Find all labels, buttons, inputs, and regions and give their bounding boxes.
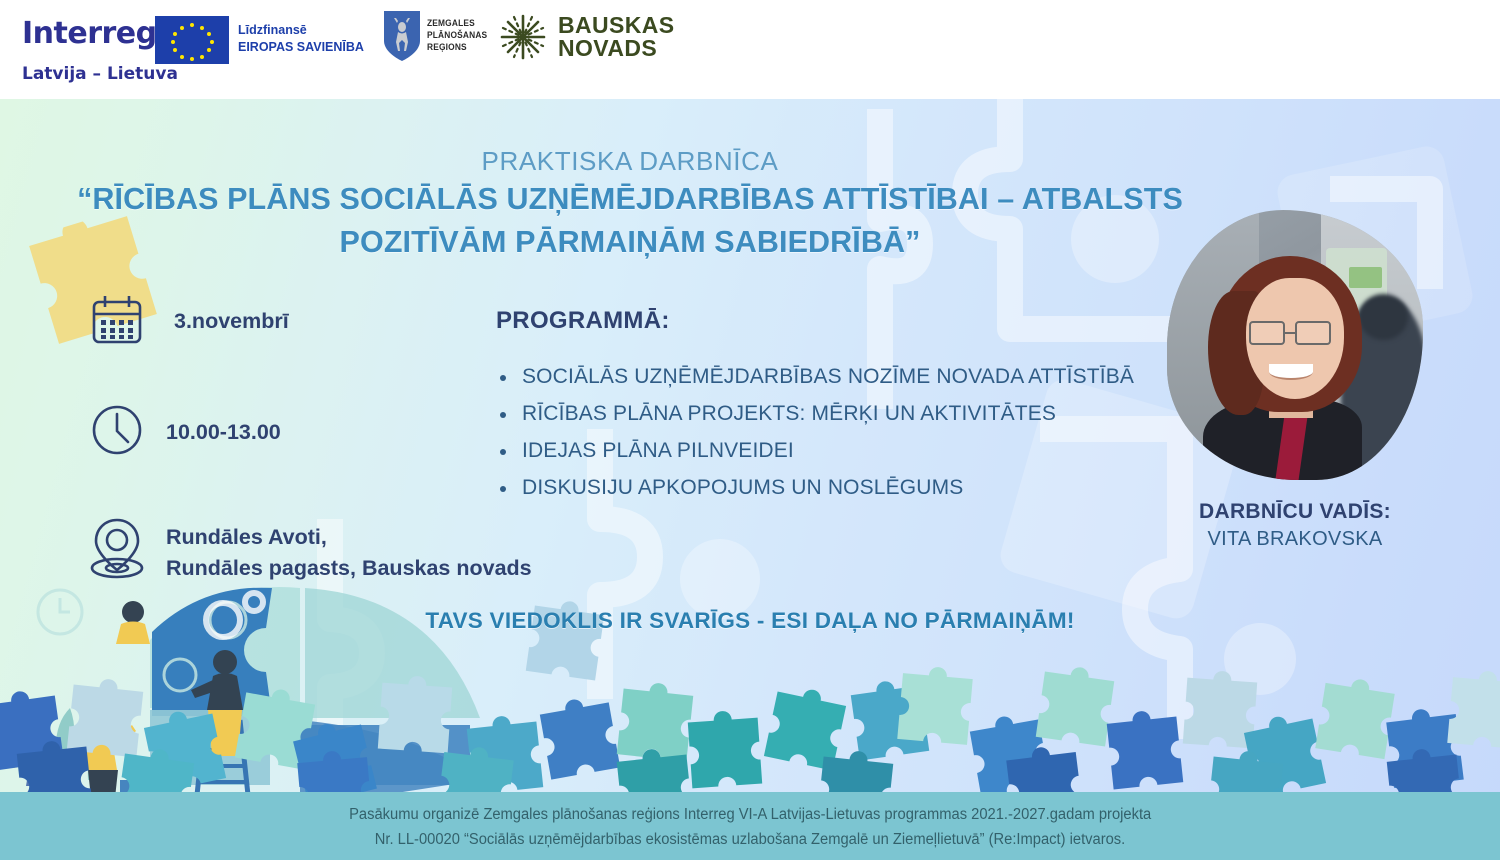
title-line-1: “RĪCĪBAS PLĀNS SOCIĀLĀS UZŅĒMĒJDARBĪBAS …: [0, 178, 1260, 221]
location-pin-icon: [88, 516, 158, 587]
detail-row-location: Rundāles Avoti, Rundāles pagasts, Bauska…: [88, 516, 588, 587]
event-location: Rundāles Avoti, Rundāles pagasts, Bauska…: [158, 516, 532, 583]
page-title: “RĪCĪBAS PLĀNS SOCIĀLĀS UZŅĒMĒJDARBĪBAS …: [0, 178, 1260, 265]
zemgale-shield-icon: [383, 10, 421, 62]
speaker-section: DARBNĪCU VADĪS: VITA BRAKOVSKA: [1150, 210, 1440, 551]
program-item: DISKUSIJU APKOPOJUMS UN NOSLĒGUMS: [496, 476, 1156, 500]
bauskas-novads-logo: BAUSKAS NOVADS: [498, 13, 675, 61]
program-item: SOCIĀLĀS UZŅĒMĒJDARBĪBAS NOZĪME NOVADA A…: [496, 365, 1156, 389]
footer-line-2: Nr. LL-00020 “Sociālās uzņēmējdarbības e…: [375, 828, 1126, 852]
eu-flag-icon: [155, 16, 229, 64]
title-line-2: POZITĪVĀM PĀRMAIŅĀM SABIEDRĪBĀ”: [0, 221, 1260, 264]
event-date: 3.novembrī: [158, 292, 289, 337]
speaker-name: VITA BRAKOVSKA: [1150, 528, 1440, 551]
bauskas-wordmark: BAUSKAS NOVADS: [558, 14, 675, 61]
calendar-icon: [88, 292, 158, 355]
program-heading: PROGRAMMĀ:: [496, 307, 1156, 335]
bauskas-line1: BAUSKAS: [558, 14, 675, 37]
kicker-text: PRAKTISKA DARBNĪCA: [0, 146, 1260, 177]
logo-bar: Interreg Latvija – Lietuva Līdzfinansē E…: [0, 0, 1500, 99]
zemgale-line1: ZEMGALES: [427, 18, 487, 30]
eu-funding-line1: Līdzfinansē: [238, 22, 364, 39]
eu-funding-line2: EIROPAS SAVIENĪBA: [238, 39, 364, 56]
location-line-2: Rundāles pagasts, Bauskas novads: [166, 553, 532, 584]
footer-line-1: Pasākumu organizē Zemgales plānošanas re…: [349, 803, 1151, 827]
program-item: RĪCĪBAS PLĀNA PROJEKTS: MĒRĶI UN AKTIVIT…: [496, 402, 1156, 426]
call-to-action-text: TAVS VIEDOKLIS IR SVARĪGS - ESI DAĻA NO …: [0, 608, 1500, 634]
zemgale-region-text: ZEMGALES PLĀNOŠANAS REĢIONS: [427, 18, 487, 54]
program-item: IDEJAS PLĀNA PILNVEIDEI: [496, 439, 1156, 463]
poster-root: Interreg Latvija – Lietuva Līdzfinansē E…: [0, 0, 1500, 860]
program-list: SOCIĀLĀS UZŅĒMĒJDARBĪBAS NOZĪME NOVADA A…: [496, 365, 1156, 500]
speaker-role-label: DARBNĪCU VADĪS:: [1150, 500, 1440, 524]
zemgale-line3: REĢIONS: [427, 42, 487, 54]
bauskas-starburst-icon: [498, 13, 548, 61]
program-section: PROGRAMMĀ: SOCIĀLĀS UZŅĒMĒJDARBĪBAS NOZĪ…: [496, 307, 1156, 513]
interreg-programme-label: Latvija – Lietuva: [22, 64, 178, 84]
eu-funding-text: Līdzfinansē EIROPAS SAVIENĪBA: [238, 22, 364, 56]
clock-icon: [88, 401, 158, 464]
event-time: 10.00-13.00: [158, 401, 281, 448]
zemgale-line2: PLĀNOŠANAS: [427, 30, 487, 42]
bauskas-line2: NOVADS: [558, 37, 675, 60]
zemgale-region-logo: ZEMGALES PLĀNOŠANAS REĢIONS: [383, 10, 496, 62]
location-line-1: Rundāles Avoti,: [166, 522, 532, 553]
speaker-portrait-photo: [1167, 210, 1423, 480]
footer-bar: Pasākumu organizē Zemgales plānošanas re…: [0, 795, 1500, 860]
